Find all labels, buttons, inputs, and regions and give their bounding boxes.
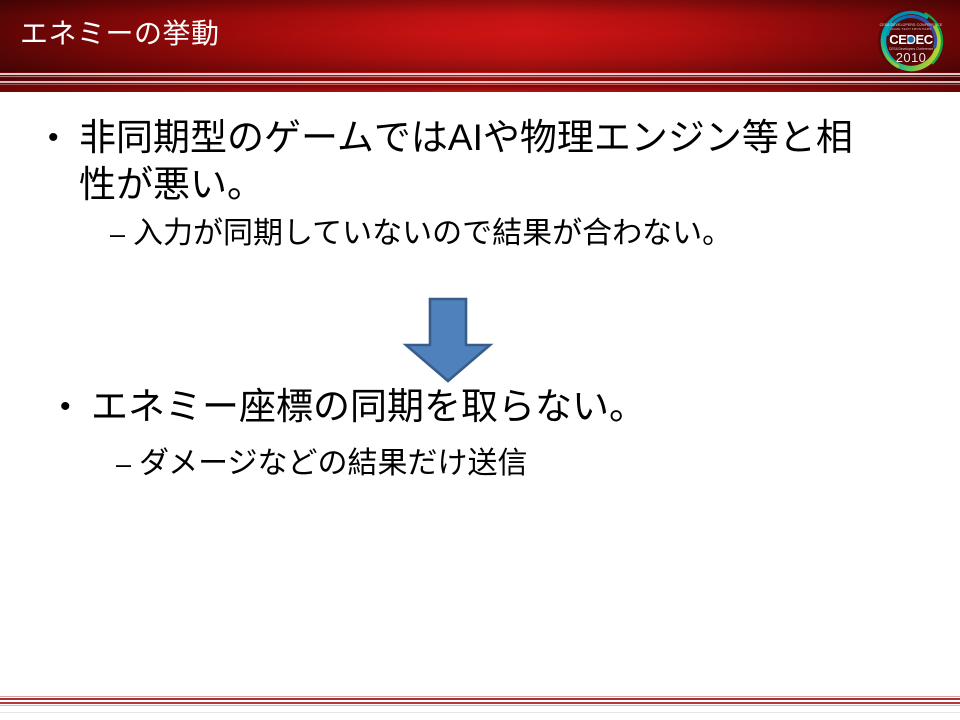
bullet-item-level1: • エネミー座標の同期を取らない。 <box>60 383 880 430</box>
cedec-2010-logo: CESA DEVELOPERS CONFERENCE GAME TECH FRO… <box>877 7 945 75</box>
header-fade <box>0 85 960 92</box>
footer-rule-4 <box>0 702 960 704</box>
svg-text:GAME TECH FRONTIERS: GAME TECH FRONTIERS <box>891 27 932 31</box>
bullet-marker-icon: • <box>48 114 79 161</box>
slide-root: エネミーの挙動 <box>0 0 960 720</box>
footer-rule-6 <box>0 712 960 713</box>
bullet-marker-icon: • <box>60 383 91 430</box>
header-separator-stripes <box>0 72 960 92</box>
slide-footer <box>0 694 960 720</box>
dash-marker-icon: – <box>116 444 139 484</box>
dash-marker-icon: – <box>110 214 133 254</box>
bullet-item-level2: – ダメージなどの結果だけ送信 <box>116 444 916 484</box>
svg-text:2010: 2010 <box>896 50 927 65</box>
bullet-text: ダメージなどの結果だけ送信 <box>139 444 528 484</box>
bullet-item-level2: – 入力が同期していないので結果が合わない。 <box>110 214 910 254</box>
slide-body: • 非同期型のゲームではAIや物理エンジン等と相性が悪い。 – 入力が同期してい… <box>0 92 960 682</box>
footer-rule-2 <box>0 698 960 700</box>
page-title: エネミーの挙動 <box>20 17 220 51</box>
footer-rule-1 <box>0 696 960 697</box>
bullet-text: エネミー座標の同期を取らない。 <box>91 383 646 430</box>
bullet-item-level1: • 非同期型のゲームではAIや物理エンジン等と相性が悪い。 <box>48 114 888 208</box>
stripe-line-2 <box>0 76 960 77</box>
stripe-line-4 <box>0 81 960 83</box>
footer-rule-5 <box>0 705 960 706</box>
bullet-text: 入力が同期していないので結果が合わない。 <box>133 214 732 254</box>
stripe-line-1 <box>0 73 960 75</box>
slide-header-band: エネミーの挙動 <box>0 0 960 72</box>
down-arrow-icon <box>398 297 498 383</box>
bullet-text: 非同期型のゲームではAIや物理エンジン等と相性が悪い。 <box>79 114 888 208</box>
